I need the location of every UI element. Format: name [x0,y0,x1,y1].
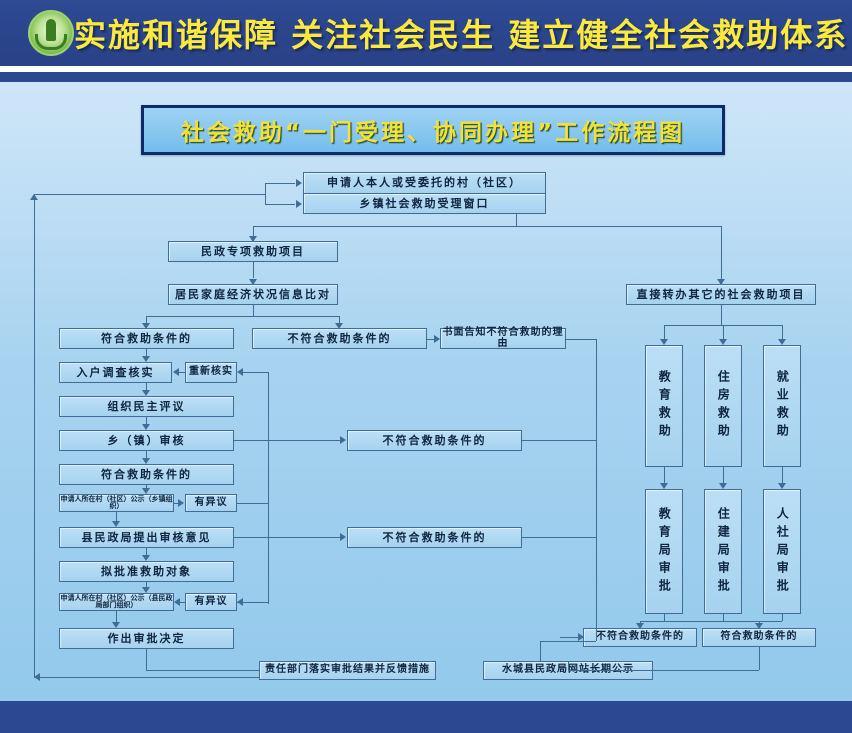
connector [759,647,760,670]
node-recheck: 重新核实 [185,362,237,383]
connector-arrow [778,339,786,345]
connector-arrow [142,323,150,329]
header-band: 实施和谐保障 关注社会民生 建立健全社会救助体系 [0,0,852,66]
connector-arrow [142,356,150,362]
connector-arrow [112,521,120,527]
connector-arrow [719,339,727,345]
node-final-decision: 作出审批决定 [59,628,234,649]
connector [234,440,341,441]
node-employment-aid: 就业救助 [763,345,801,467]
connector-arrow [340,533,346,541]
connector [146,670,259,671]
connector [721,226,722,284]
connector-arrow [340,436,346,444]
connector-arrow [249,236,257,242]
connector [116,512,117,521]
connector-arrow [660,483,668,489]
connector [664,467,665,483]
connector [146,417,147,424]
connector [146,451,147,458]
node-transfer-other: 直接转办其它的社会救助项目 [626,284,816,305]
node-eligible-2: 符合救助条件的 [59,464,234,485]
connector-arrow [249,279,257,285]
connector-arrow [237,368,243,376]
connector-arrow [660,339,668,345]
connector [640,621,782,622]
connector [146,316,147,323]
footer-band [0,701,852,733]
connector-arrow [296,200,302,208]
connector [664,325,665,339]
connector [146,548,147,555]
node-civil-affairs-program: 民政专项救助项目 [168,241,338,262]
connector [179,372,185,373]
connector [782,325,783,339]
connector [146,383,147,390]
connector-arrow [173,368,179,376]
chart-title-plaque: 社会救助“一门受理、协同办理”工作流程图 [141,105,725,155]
connector [253,226,517,227]
node-township-review: 乡（镇）审核 [59,430,234,451]
connector [265,183,295,184]
connector [540,641,541,661]
header-blue-rule [0,72,852,82]
connector-arrow [142,488,150,494]
connector [723,614,724,621]
node-housing-aid: 住房救助 [704,345,742,467]
node-proposed-target: 拟批准救助对象 [59,561,234,582]
poster-root: 实施和谐保障 关注社会民生 建立健全社会救助体系 社会救助“一门受理、协同办理”… [0,0,852,733]
connector-arrow [142,390,150,396]
connector-return-bus [34,194,265,195]
connector [782,614,783,621]
connector-arrow [578,633,584,641]
node-ineligible-2: 不符合救助条件的 [347,430,522,451]
connector-arrow [142,587,150,593]
node-written-notice: 书面告知不符合救助的理由 [440,328,566,349]
connector-arrow [636,623,644,629]
connector [568,670,759,671]
node-edu-bureau: 教育局审批 [645,489,683,614]
connector-arrow [142,555,150,561]
node-eligible-3: 符合救助条件的 [702,628,816,647]
connector [265,204,295,205]
ministry-of-civil-affairs-emblem-icon [28,10,74,56]
connector [516,214,517,226]
connector-arrow [719,483,727,489]
connector-return-bus [34,677,259,678]
connector [568,661,569,670]
connector [146,349,147,356]
node-applicant: 申请人本人或受委托的村（社区） [303,172,546,193]
connector [234,537,341,538]
node-objection-1: 有异议 [185,494,237,512]
node-dept-feedback: 责任部门落实审批结果并反馈措施 [259,661,436,680]
connector [146,649,147,670]
connector-arrow [237,598,243,606]
connector-arrow [174,598,180,606]
node-intake-window: 乡镇社会救助受理窗口 [303,193,546,214]
node-edu-aid: 教育救助 [645,345,683,467]
connector-arrow [717,279,725,285]
node-home-visit: 入户调查核实 [59,362,172,383]
connector [522,537,596,538]
connector-arrow [434,335,440,343]
connector [759,621,760,628]
connector [522,440,596,441]
connector [540,641,596,642]
connector [237,503,268,504]
connector [265,183,266,204]
node-ineligible-4: 不符合救助条件的 [583,628,697,647]
header-slogan: 实施和谐保障 关注社会民生 建立健全社会救助体系 [74,10,852,56]
connector [723,467,724,483]
node-ineligible-1: 不符合救助条件的 [252,328,427,349]
connector-return-bus [34,194,35,677]
connector [566,339,596,340]
connector-arrow [296,179,302,187]
node-objection-2: 有异议 [185,593,237,611]
connector [516,226,721,227]
connector [253,262,254,278]
node-ineligible-3: 不符合救助条件的 [347,527,522,548]
connector [146,316,340,317]
connector-arrow [178,499,184,507]
node-hr-bureau: 人社局审批 [763,489,801,614]
connector-arrow [778,483,786,489]
node-housing-bureau: 住建局审批 [704,489,742,614]
connector-arrow [30,194,38,200]
node-village-publicity-2: 申请人所在村（社区）公示（县民政局部门组织） [59,593,174,611]
node-democratic-review: 组织民主评议 [59,396,234,417]
connector [243,372,268,373]
node-county-opinion: 县民政局提出审核意见 [59,527,234,548]
connector [596,339,597,641]
connector [664,614,665,621]
connector [339,316,340,323]
connector-arrow [142,424,150,430]
connector-arrow [112,622,120,628]
node-economic-check: 居民家庭经济状况信息比对 [168,284,338,305]
node-village-publicity-1: 申请人所在村（社区）公示（乡镇组织） [59,494,174,512]
connector [782,467,783,483]
connector-arrow [142,458,150,464]
connector [723,325,724,339]
connector-objection-bus [268,372,269,604]
connector-arrow [34,673,40,681]
connector [721,305,722,325]
node-eligible-1: 符合救助条件的 [59,328,234,349]
connector [253,305,254,316]
connector-arrow [335,323,343,329]
chart-title-text: 社会救助“一门受理、协同办理”工作流程图 [181,113,685,147]
